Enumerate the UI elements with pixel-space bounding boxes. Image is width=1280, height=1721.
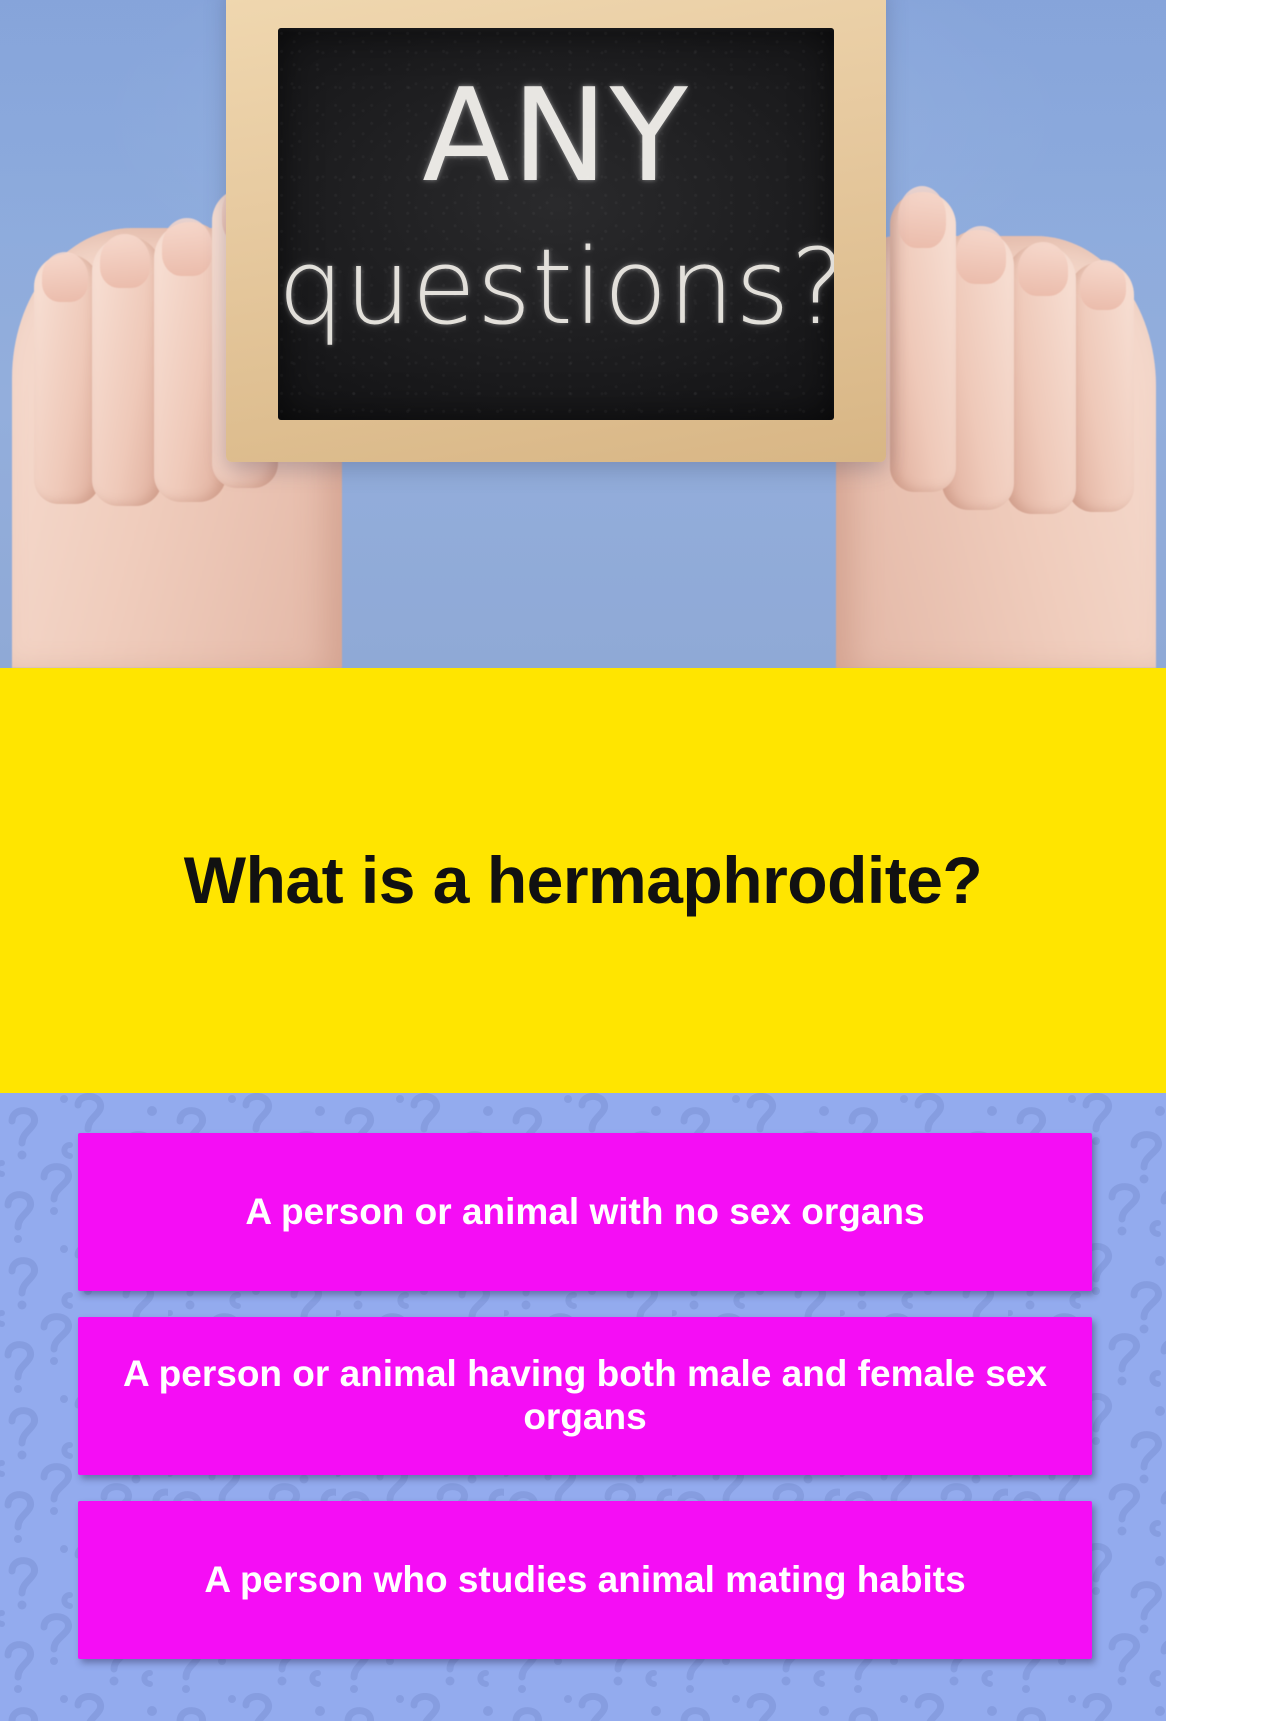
answer-option-2[interactable]: A person or animal having both male and … <box>78 1317 1092 1475</box>
answer-option-1-label: A person or animal with no sex organs <box>100 1191 1070 1234</box>
chalkboard-subheading: questions? <box>278 226 834 348</box>
answer-option-3-label: A person who studies animal mating habit… <box>100 1559 1070 1602</box>
answers-section: A person or animal with no sex organs A … <box>0 1093 1166 1721</box>
question-banner: What is a hermaphrodite? <box>0 668 1166 1093</box>
chalkboard-frame: ANY questions? <box>226 0 886 462</box>
question-title: What is a hermaphrodite? <box>144 844 1022 917</box>
answer-option-3[interactable]: A person who studies animal mating habit… <box>78 1501 1092 1659</box>
answer-options-list: A person or animal with no sex organs A … <box>0 1093 1166 1721</box>
quiz-card: ANY questions? What is a hermaphrodite? <box>0 0 1166 1721</box>
header-photo: ANY questions? <box>0 0 1166 668</box>
answer-option-2-label: A person or animal having both male and … <box>100 1353 1070 1438</box>
answer-option-1[interactable]: A person or animal with no sex organs <box>78 1133 1092 1291</box>
chalkboard-heading: ANY <box>278 62 834 211</box>
chalkboard-surface: ANY questions? <box>278 28 834 420</box>
